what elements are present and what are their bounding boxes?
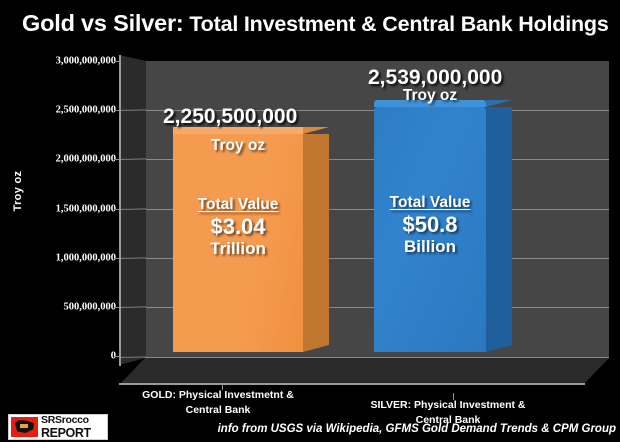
- srsrocco-report-logo[interactable]: SRSrocco REPORT: [8, 414, 108, 440]
- x-category-label-silver-line1: SILVER: Physical Investment &: [330, 398, 566, 413]
- x-category-label-gold-line1: GOLD: Physical Investmetnt &: [108, 388, 328, 403]
- bar-silver-unit-label: Troy oz: [374, 87, 486, 105]
- logo-brand-name: SRSrocco: [41, 415, 91, 426]
- bar-gold-side-face: [303, 134, 329, 352]
- y-axis-line: [119, 55, 121, 366]
- x-axis-line: [119, 383, 585, 385]
- logo-text: SRSrocco REPORT: [41, 415, 91, 439]
- bar-gold-amount-word: Trillion: [173, 239, 303, 259]
- gridline: [119, 109, 146, 111]
- bar-gold-amount: $3.04: [173, 214, 303, 239]
- gridline: [119, 356, 146, 358]
- logo-brand-word: REPORT: [41, 427, 91, 440]
- x-category-label-gold: GOLD: Physical Investmetnt & Central Ban…: [108, 388, 328, 418]
- y-tick-label: 1,500,000,000: [4, 204, 116, 215]
- bar-gold-total-value-heading: Total Value: [173, 196, 303, 214]
- gridline: [119, 158, 146, 160]
- bar-silver-side-face: [486, 107, 512, 352]
- y-tick-label: 3,000,000,000: [4, 56, 116, 67]
- bar-silver-total-value-heading: Total Value: [374, 194, 486, 212]
- title-rest: Total Investment & Central Bank Holdings: [184, 12, 609, 36]
- gridline: [119, 306, 146, 308]
- y-tick-label: 1,000,000,000: [4, 253, 116, 264]
- source-note: info from USGS via Wikipedia, GFMS Gold …: [170, 423, 616, 435]
- y-axis-ticks: 3,000,000,000 2,500,000,000 2,000,000,00…: [0, 0, 116, 442]
- bar-silver-amount-word: Billion: [374, 237, 486, 257]
- y-tick-label: 500,000,000: [4, 302, 116, 313]
- bar-gold-unit-label: Troy oz: [173, 137, 303, 155]
- y-tick-label: 2,000,000,000: [4, 154, 116, 165]
- bar-silver-total-value-block: Total Value $50.8 Billion: [374, 194, 486, 257]
- x-category-label-gold-line2: Central Bank: [108, 403, 328, 418]
- plot-left-wall: [119, 55, 146, 365]
- gridline: [119, 257, 146, 259]
- bar-gold-value-label: 2,250,500,000: [163, 105, 297, 129]
- bar-silver-amount: $50.8: [374, 212, 486, 237]
- bar-gold-total-value-block: Total Value $3.04 Trillion: [173, 196, 303, 259]
- y-tick-label: 0: [4, 351, 116, 362]
- y-tick-label: 2,500,000,000: [4, 105, 116, 116]
- floor-back-edge: [145, 357, 609, 358]
- gridline: [119, 208, 146, 210]
- chart-container: Gold vs Silver: Total Investment & Centr…: [0, 0, 620, 442]
- logo-mark-icon: [11, 417, 38, 437]
